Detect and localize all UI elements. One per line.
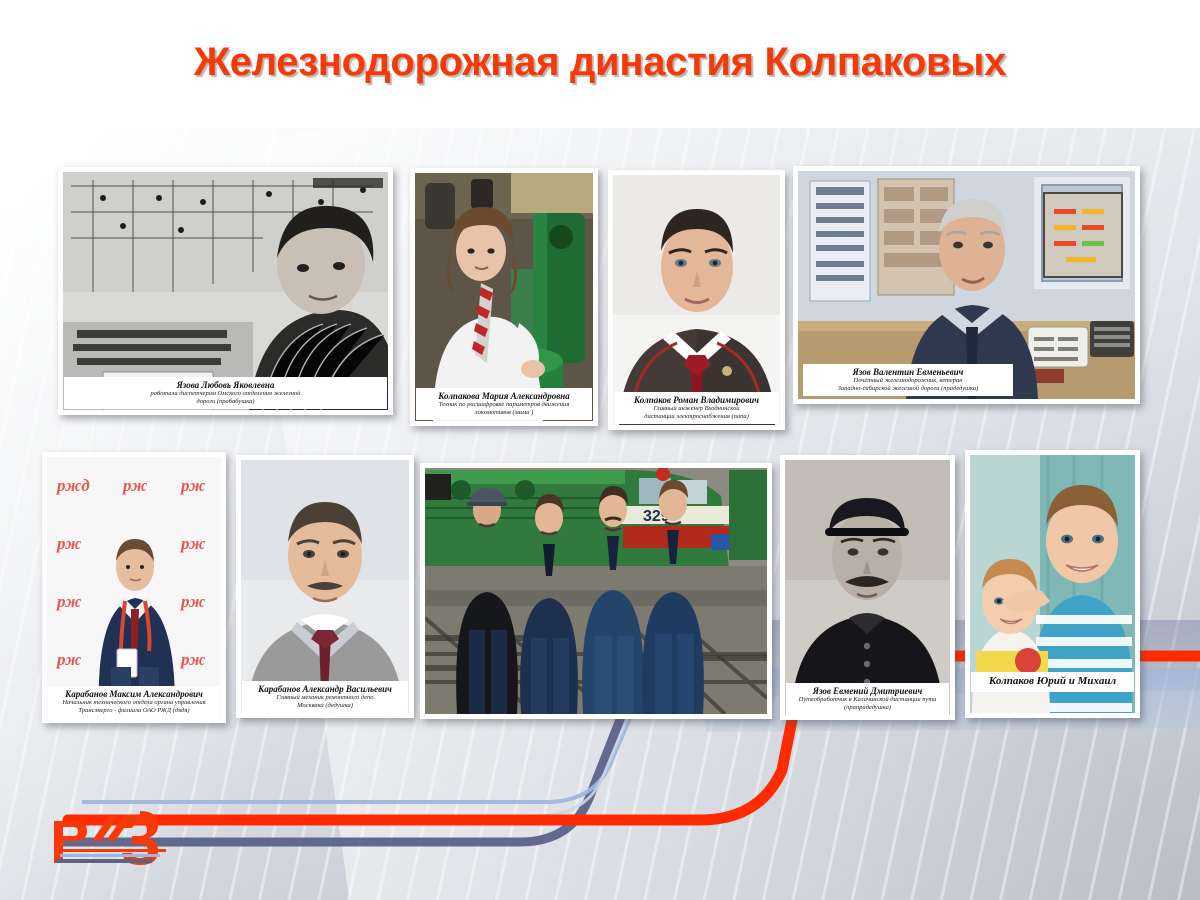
caption-role-line2: (прапрадедушка) — [788, 704, 947, 711]
photo-kolpakov-roman — [613, 175, 780, 425]
caption-kolpakova-mariya: Колпакова Мария Александровна Техник по … — [416, 388, 592, 420]
photo-card-karabanov-aleksandr[interactable]: Карабанов Александр Васильевич Главный м… — [236, 455, 414, 718]
title-band: Железнодорожная династия Колпаковых — [0, 0, 1200, 128]
caption-yazova-lyubov: Язова Любовь Яковлевна работала диспетче… — [64, 377, 387, 409]
svg-text:рж: рж — [55, 534, 81, 553]
svg-text:рж: рж — [55, 592, 81, 611]
photo-kolpakova-mariya — [415, 173, 593, 421]
photo-card-yazov-valentin[interactable]: Язов Валентин Евменьевич Почётный железн… — [793, 166, 1140, 404]
caption-role-line1: работала диспетчером Омского отделения ж… — [66, 390, 385, 397]
caption-role-line2: Западно-сибирской железной дороги (праде… — [805, 385, 1011, 392]
caption-kolpakov-roman: Колпаков Роман Владимирович Главный инже… — [614, 392, 779, 424]
caption-karabanov-maksim: Карабанов Максим Александрович Начальник… — [48, 686, 220, 718]
caption-role-line2: Трансэнерго - филиала ОАО РЖД (дядя) — [50, 707, 218, 714]
svg-text:рж: рж — [179, 534, 205, 553]
caption-name: Язова Любовь Яковлевна — [66, 380, 385, 390]
photo-card-karabanov-maksim[interactable]: рждржрж ржрж ржрж ржрж ржрж — [42, 452, 226, 723]
page-title: Железнодорожная династия Колпаковых — [0, 40, 1200, 85]
photo-yazov-evmeniy — [785, 460, 950, 715]
caption-role-line1: Техник по расшифровке параметров движени… — [418, 401, 590, 408]
svg-text:рж: рж — [179, 650, 205, 669]
svg-text:рж: рж — [55, 650, 81, 669]
caption-name: Карабанов Максим Александрович — [50, 689, 218, 699]
photo-illustration-dispatcher-panel — [63, 172, 388, 410]
photo-illustration-man-rzd-banner: рждржрж ржрж ржрж ржрж ржрж — [47, 457, 221, 718]
photo-card-kolpakov-roman[interactable]: Колпаков Роман Владимирович Главный инже… — [608, 170, 785, 430]
caption-yazov-valentin: Язов Валентин Евменьевич Почётный железн… — [803, 364, 1013, 396]
caption-role-line2: локомотивов (мама ) — [418, 409, 590, 416]
svg-text:ржд: ржд — [55, 476, 90, 495]
caption-role-line2: дороги (прабабушка) — [66, 398, 385, 405]
photo-card-locomotive-crew[interactable]: 329 — [420, 463, 772, 719]
photo-karabanov-aleksandr — [241, 460, 409, 713]
caption-role-line2: Москвака (дедушка) — [244, 702, 406, 709]
rzd-logo — [48, 805, 168, 867]
photo-illustration-man-grey-vest — [241, 460, 409, 713]
caption-role-line1: Почётный железнодорожник, ветеран — [805, 377, 1011, 384]
caption-role-line1: Начальник технического отдела органа упр… — [50, 699, 218, 706]
svg-text:рж: рж — [121, 476, 147, 495]
caption-name: Язов Валентин Евменьевич — [805, 367, 1011, 377]
caption-role-line1: Путеобработчик в Калачинской дистанции п… — [788, 696, 947, 703]
photo-card-yazova-lyubov[interactable]: Язова Любовь Яковлевна работала диспетче… — [58, 167, 393, 415]
caption-name: Колпаков Роман Владимирович — [616, 395, 777, 405]
presentation-slide: Железнодорожная династия Колпаковых — [0, 0, 1200, 900]
photo-karabanov-maksim: рждржрж ржрж ржрж ржрж ржрж — [47, 457, 221, 718]
photo-illustration-crew-with-locomotive: 329 — [425, 468, 767, 714]
caption-name: Язов Евмений Дмитриевич — [788, 686, 947, 696]
photo-illustration-archival-portrait — [785, 460, 950, 715]
caption-name: Карабанов Александр Васильевич — [244, 684, 406, 694]
caption-role-line2: дистанции электроснабжения (папа) — [616, 413, 777, 420]
photo-card-kolpakov-deti[interactable]: Колпаков Юрий и Михаил — [965, 450, 1140, 718]
caption-karabanov-aleksandr: Карабанов Александр Васильевич Главный м… — [242, 681, 408, 713]
svg-text:рж: рж — [179, 592, 205, 611]
caption-yazov-evmeniy: Язов Евмений Дмитриевич Путеобработчик в… — [786, 683, 949, 715]
caption-role-line1: Главный механик ремонтного депо — [244, 694, 406, 701]
photo-card-yazov-evmeniy[interactable]: Язов Евмений Дмитриевич Путеобработчик в… — [780, 455, 955, 720]
caption-role-line1: Главный инженер Входнинской — [616, 405, 777, 412]
photo-locomotive-crew: 329 — [425, 468, 767, 714]
caption-name: Колпакова Мария Александровна — [418, 391, 590, 401]
svg-text:рж: рж — [179, 476, 205, 495]
photo-card-kolpakova-mariya[interactable]: Колпакова Мария Александровна Техник по … — [410, 168, 598, 426]
photo-illustration-woman-technician — [415, 173, 593, 421]
photo-yazova-lyubov — [63, 172, 388, 410]
caption-kolpakov-deti: Колпаков Юрий и Михаил — [971, 672, 1134, 692]
photo-illustration-man-uniform — [613, 175, 780, 425]
caption-name: Колпаков Юрий и Михаил — [973, 675, 1132, 688]
